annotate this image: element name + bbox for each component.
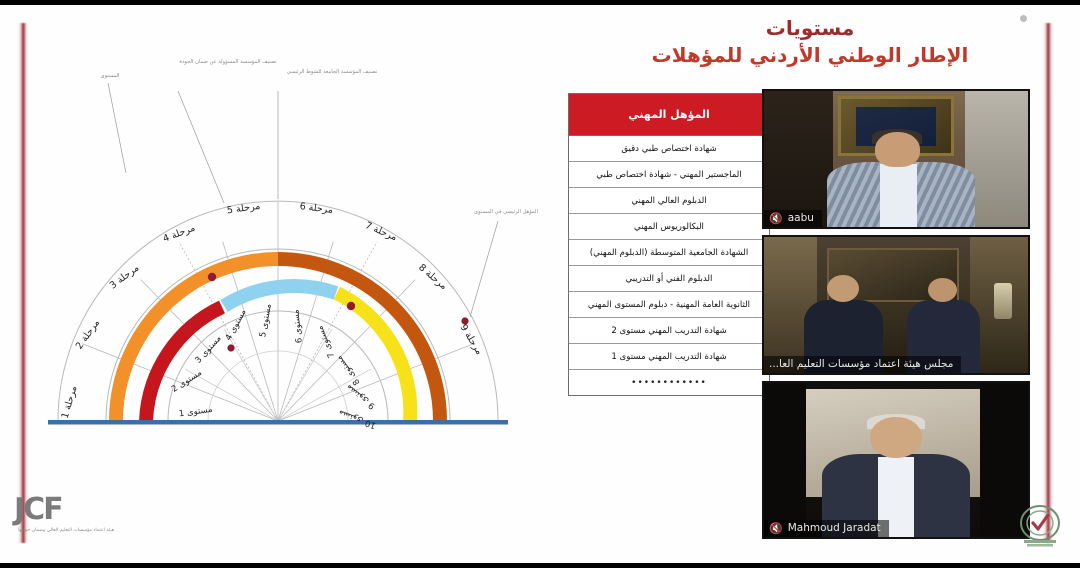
table-row: شهادة التدريب المهني مستوى 1 xyxy=(569,344,769,370)
table-row: •••••••••••• xyxy=(569,370,769,395)
presentation-slide: مستويات الإطار الوطني الأردني للمؤهلات ا… xyxy=(0,5,1080,563)
qualification-framework-gauge: مرحلة 1 مرحلة 2 مرحلة 3 مرحلة 4 مرحلة 5 … xyxy=(28,21,548,441)
marker-stage-5 xyxy=(208,273,216,281)
inner-sector-label: مستوى 7 xyxy=(315,324,337,359)
outer-sector-label: مرحلة 4 xyxy=(161,223,196,245)
participant-name-badge: 🔇 aabu xyxy=(764,210,822,227)
screenshot-root: مستويات الإطار الوطني الأردني للمؤهلات ا… xyxy=(0,0,1080,568)
participant-name-badge: مجلس هيئة اعتماد مؤسسات التعليم العا... xyxy=(764,356,961,373)
video-feed-image xyxy=(764,237,1028,373)
title-line-1: مستويات xyxy=(600,15,1020,42)
video-tile[interactable]: 🔇 Mahmoud Jaradat xyxy=(762,381,1030,539)
table-row: الدبلوم الفني أو التدريبي xyxy=(569,266,769,292)
slide-title: مستويات الإطار الوطني الأردني للمؤهلات xyxy=(600,15,1020,69)
table-row: الماجستير المهني - شهادة اختصاص طبي xyxy=(569,162,769,188)
video-grid: 🔇 aabu مجلس هيئة اعتماد مؤسسات التعليم ا… xyxy=(762,89,1030,539)
inner-sector-label: مستوى 5 xyxy=(258,303,274,338)
outer-sector-label: مرحلة 6 xyxy=(299,201,334,216)
annotation-institution-main-line: تصنيف المؤسسة الجامعة للشوط الرئيسي xyxy=(287,69,378,75)
outer-sector-label: مرحلة 3 xyxy=(108,263,141,292)
gauge-baseline xyxy=(48,420,508,425)
decorative-rule-right xyxy=(1043,23,1053,543)
mouse-cursor xyxy=(1020,15,1027,22)
participant-name: aabu xyxy=(788,212,814,224)
jcf-logo-mark: JCF xyxy=(14,495,114,525)
table-row: الدبلوم العالي المهني xyxy=(569,188,769,214)
annotation-institution-accredited-line: تصنيف المؤسسة المسؤولة عن ضمان الجودة xyxy=(179,59,277,65)
outer-sector-label: مرحلة 5 xyxy=(226,201,261,217)
table-row: الثانوية العامة المهنية - دبلوم المستوى … xyxy=(569,292,769,318)
participant-name: مجلس هيئة اعتماد مؤسسات التعليم العا... xyxy=(769,358,953,370)
seal-icon xyxy=(1014,499,1066,551)
inner-sector-label: مستوى 9 xyxy=(344,382,377,411)
annotation-levels-line: المستوى xyxy=(101,73,120,79)
table-row: شهادة التدريب المهني مستوى 2 xyxy=(569,318,769,344)
accreditation-seal-logo xyxy=(1014,499,1066,551)
video-feed-image xyxy=(764,383,1028,537)
inner-sector-label: مستوى 4 xyxy=(224,308,249,343)
qualification-table-header: المؤهل المهني xyxy=(569,94,769,136)
video-tile[interactable]: 🔇 aabu xyxy=(762,89,1030,229)
inner-gridlines xyxy=(170,311,386,421)
marker-level-4 xyxy=(227,344,234,351)
mic-muted-icon: 🔇 xyxy=(769,523,783,534)
outer-sector-label: مرحلة 1 xyxy=(60,385,80,420)
table-row: شهادة اختصاص طبي دقيق xyxy=(569,136,769,162)
marker-stage-7 xyxy=(347,302,355,310)
outer-sector-label: مرحلة 7 xyxy=(363,220,398,243)
arc-outer-left-orange xyxy=(116,259,278,421)
mic-muted-icon: 🔇 xyxy=(769,213,783,224)
annotation-main-path-line: المؤهل الرئيسي في المستوى xyxy=(474,209,538,215)
jcf-logo-subtitle: هيئة اعتماد مؤسسات التعليم العالي وضمان … xyxy=(14,528,114,533)
gauge-svg: مرحلة 1 مرحلة 2 مرحلة 3 مرحلة 4 مرحلة 5 … xyxy=(28,21,548,441)
video-feed-image xyxy=(764,91,1028,227)
video-tile[interactable]: مجلس هيئة اعتماد مؤسسات التعليم العا... xyxy=(762,235,1030,375)
arc-mid-top-skyblue xyxy=(224,286,336,306)
table-row: الشهادة الجامعية المتوسطة (الدبلوم المهن… xyxy=(569,240,769,266)
letterbox-top xyxy=(0,0,1080,5)
participant-name: Mahmoud Jaradat xyxy=(788,522,881,534)
letterbox-bottom xyxy=(0,563,1080,568)
qualification-table: المؤهل المهني شهادة اختصاص طبي دقيق الما… xyxy=(568,93,770,396)
jcf-logo: JCF هيئة اعتماد مؤسسات التعليم العالي وض… xyxy=(14,495,114,549)
participant-name-badge: 🔇 Mahmoud Jaradat xyxy=(764,520,889,537)
table-row: البكالوريوس المهني xyxy=(569,214,769,240)
outer-sector-label: مرحلة 2 xyxy=(74,318,102,352)
decorative-rule-left xyxy=(18,23,28,543)
title-line-2: الإطار الوطني الأردني للمؤهلات xyxy=(600,42,1020,69)
outer-sector-label: مرحلة 9 xyxy=(458,323,485,357)
